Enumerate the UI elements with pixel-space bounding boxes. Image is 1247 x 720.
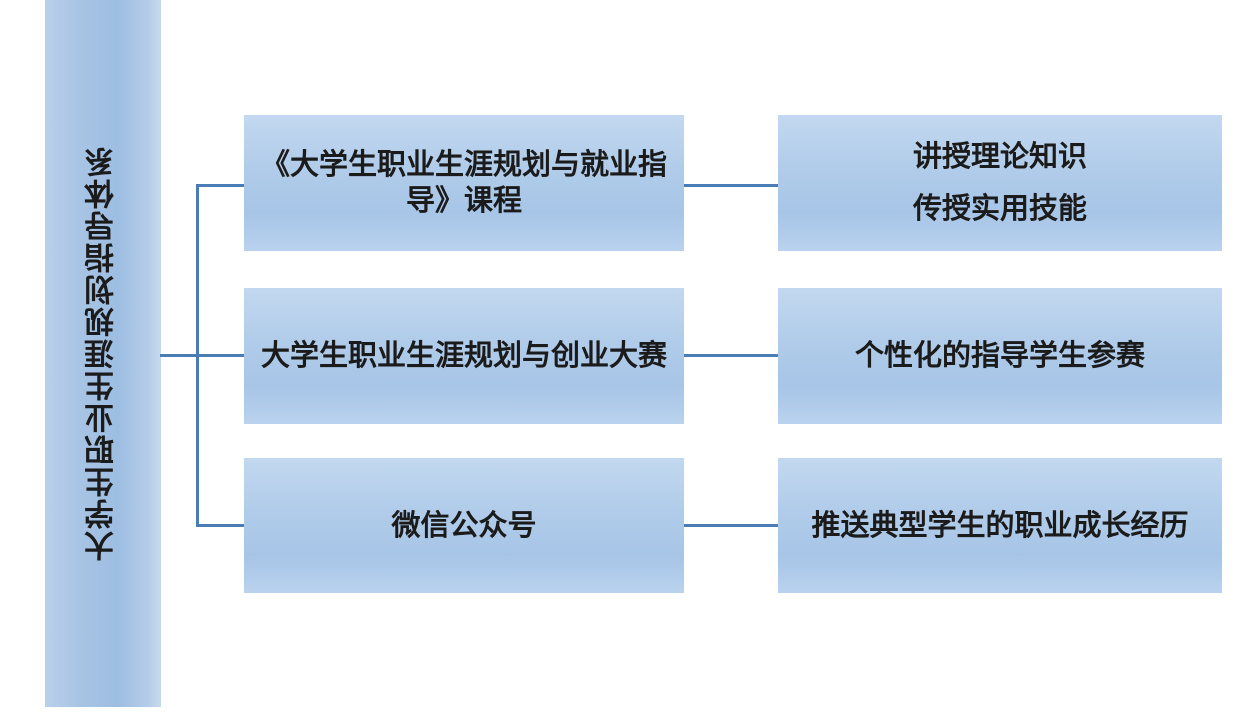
outcome-node-1-label-line-1: 讲授理论知识: [784, 139, 1216, 175]
outcome-node-2[interactable]: 个性化的指导学生参赛: [778, 288, 1222, 424]
outcome-node-1-label-line-2: 传授实用技能: [784, 191, 1216, 227]
diagram-canvas: 大学生职业生涯规划指导体系 《大学生职业生涯规划与就业指导》课程 大学生职业生涯…: [0, 0, 1247, 720]
connector-root-stem: [160, 354, 198, 357]
outcome-node-1-text: 讲授理论知识 传授实用技能: [784, 139, 1216, 227]
connector-measure-2-to-outcome-2: [684, 354, 780, 357]
measure-node-1-label: 《大学生职业生涯规划与就业指导》课程: [250, 147, 678, 219]
measure-node-3[interactable]: 微信公众号: [244, 458, 684, 593]
measure-node-3-label: 微信公众号: [250, 508, 678, 544]
connector-measure-1-to-outcome-1: [684, 184, 780, 187]
root-node-label: 大学生职业生涯规划指导体系: [45, 0, 161, 707]
outcome-node-3-label: 推送典型学生的职业成长经历: [784, 508, 1216, 544]
outcome-node-2-label: 个性化的指导学生参赛: [784, 338, 1216, 374]
measure-node-2-label: 大学生职业生涯规划与创业大赛: [250, 338, 678, 374]
connector-bus-to-measure-3: [196, 524, 246, 527]
measure-node-1[interactable]: 《大学生职业生涯规划与就业指导》课程: [244, 115, 684, 251]
connector-bus-to-measure-1: [196, 184, 246, 187]
root-node-bar[interactable]: 大学生职业生涯规划指导体系: [45, 0, 161, 707]
outcome-node-3[interactable]: 推送典型学生的职业成长经历: [778, 458, 1222, 593]
connector-measure-3-to-outcome-3: [684, 524, 780, 527]
measure-node-2[interactable]: 大学生职业生涯规划与创业大赛: [244, 288, 684, 424]
connector-bus-to-measure-2: [196, 354, 246, 357]
outcome-node-1[interactable]: 讲授理论知识 传授实用技能: [778, 115, 1222, 251]
